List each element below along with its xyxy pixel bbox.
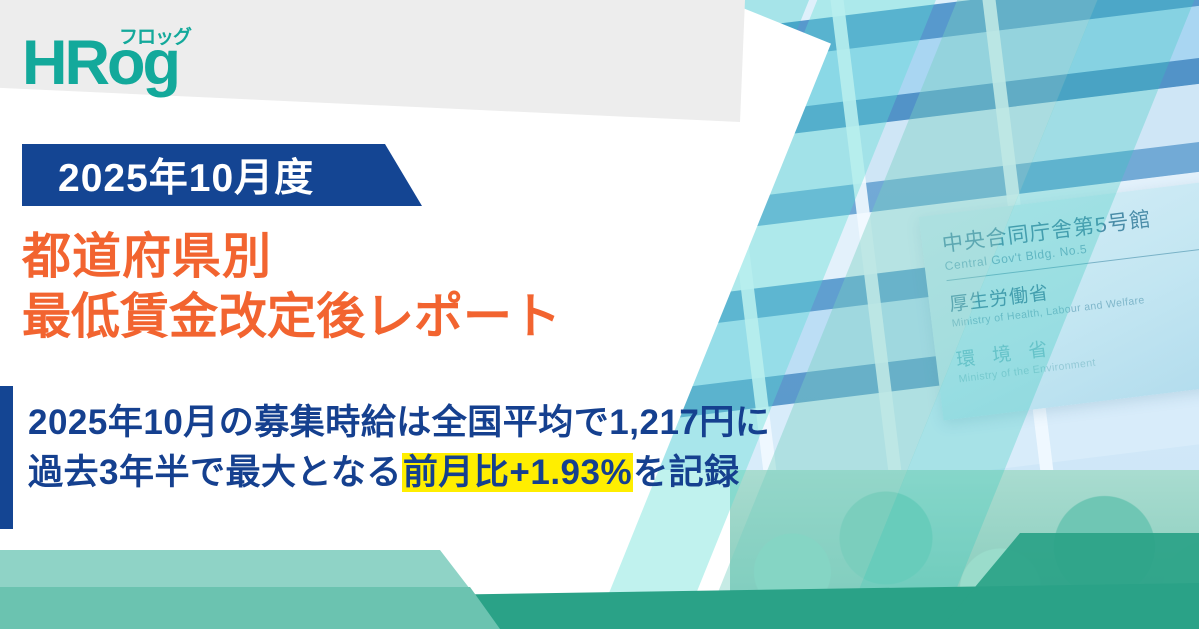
subtitle-line2-post: を記録 — [633, 453, 740, 492]
date-banner: 2025年10月度 — [22, 144, 422, 206]
footer-band-light — [0, 550, 470, 589]
page-title-line1: 都道府県別 — [22, 228, 682, 288]
poster-canvas: 中央合同庁舎第5号館 Central Gov't Bldg. No.5 厚生労働… — [0, 0, 1199, 629]
date-banner-label: 2025年10月度 — [22, 147, 314, 203]
logo-wordmark: HRog — [22, 32, 178, 95]
footer-band-mid — [0, 587, 500, 629]
hrog-logo[interactable]: フロッグ HRog — [22, 22, 202, 102]
page-title-line2: 最低賃金改定後レポート — [22, 288, 682, 348]
subtitle: 2025年10月の募集時給は全国平均で1,217円に 過去3年半で最大となる前月… — [28, 398, 908, 497]
page-title: 都道府県別 最低賃金改定後レポート — [22, 228, 682, 348]
subtitle-line2-pre: 過去3年半で最大となる — [28, 453, 402, 492]
footer-bands — [0, 489, 1199, 629]
subtitle-line1: 2025年10月の募集時給は全国平均で1,217円に — [28, 398, 908, 448]
subtitle-highlight: 前月比+1.93% — [402, 453, 633, 492]
